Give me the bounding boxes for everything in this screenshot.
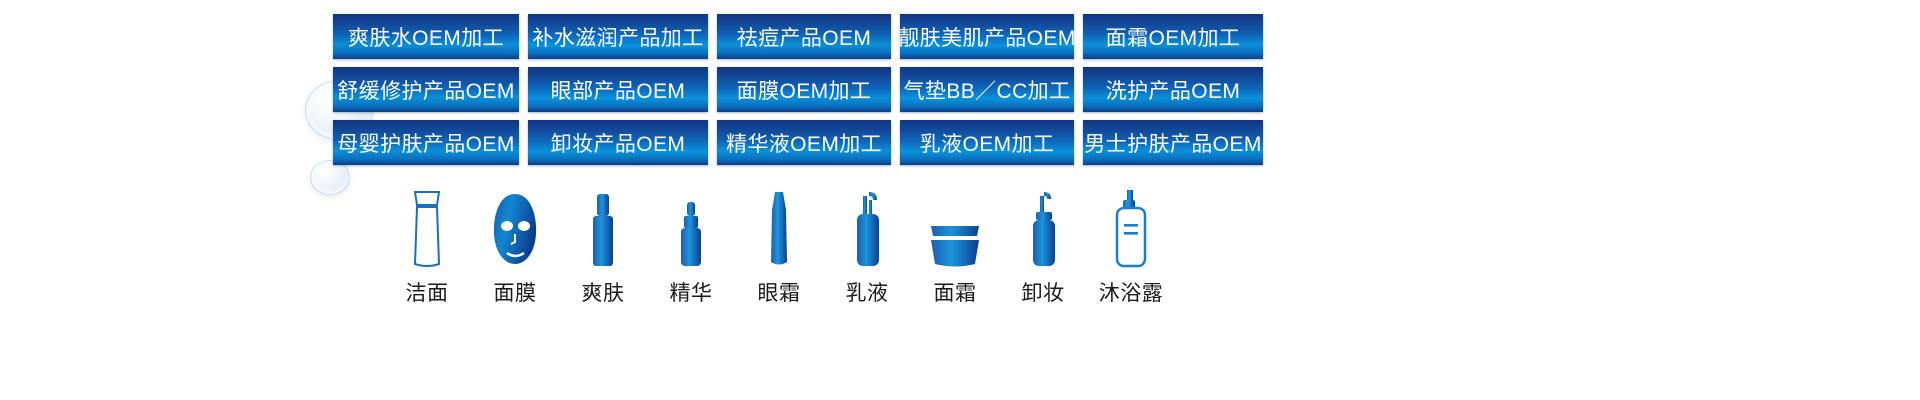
tag-label: 祛痘产品OEM bbox=[737, 22, 872, 52]
tag-label: 面霜OEM加工 bbox=[1106, 22, 1241, 52]
tag-mask-oem[interactable]: 面膜OEM加工 bbox=[717, 67, 891, 112]
tag-cushion-bb-cc-oem[interactable]: 气垫BB／CC加工 bbox=[900, 67, 1074, 112]
water-drop-small-icon bbox=[310, 160, 350, 195]
icon-label: 爽肤 bbox=[582, 277, 625, 307]
icon-label: 面膜 bbox=[494, 277, 537, 307]
tag-label: 眼部产品OEM bbox=[551, 75, 686, 105]
makeup-remover-pump-icon bbox=[1024, 190, 1062, 268]
tag-eye-care-oem[interactable]: 眼部产品OEM bbox=[528, 67, 708, 112]
tag-hydrating-oem[interactable]: 补水滋润产品加工 bbox=[528, 14, 708, 59]
product-category-serum[interactable]: 精华 bbox=[647, 190, 735, 307]
icon-label: 精华 bbox=[670, 277, 713, 307]
product-category-makeup-remover[interactable]: 卸妆 bbox=[999, 190, 1087, 307]
body-wash-bottle-icon bbox=[1109, 190, 1153, 268]
sheet-mask-icon bbox=[483, 190, 547, 268]
tag-mother-baby-oem[interactable]: 母婴护肤产品OEM bbox=[333, 120, 519, 165]
icon-label: 卸妆 bbox=[1022, 277, 1065, 307]
product-category-toner[interactable]: 爽肤 bbox=[559, 190, 647, 307]
tag-label: 卸妆产品OEM bbox=[551, 128, 686, 158]
tag-label: 补水滋润产品加工 bbox=[532, 22, 703, 52]
icon-label: 眼霜 bbox=[758, 277, 801, 307]
tag-row-2: 舒缓修护产品OEM 眼部产品OEM 面膜OEM加工 气垫BB／CC加工 洗护产品… bbox=[333, 67, 1263, 112]
product-category-lotion[interactable]: 乳液 bbox=[823, 190, 911, 307]
tag-toner-oem[interactable]: 爽肤水OEM加工 bbox=[333, 14, 519, 59]
tag-wash-care-oem[interactable]: 洗护产品OEM bbox=[1083, 67, 1263, 112]
product-category-cream[interactable]: 面霜 bbox=[911, 190, 999, 307]
icon-label: 沐浴露 bbox=[1099, 277, 1164, 307]
product-category-cleanser[interactable]: 洁面 bbox=[383, 190, 471, 307]
tag-row-3: 母婴护肤产品OEM 卸妆产品OEM 精华液OEM加工 乳液OEM加工 男士护肤产… bbox=[333, 120, 1263, 165]
tag-label: 舒缓修护产品OEM bbox=[337, 75, 514, 105]
cleanser-tube-icon bbox=[400, 190, 454, 268]
service-tag-grid: 爽肤水OEM加工 补水滋润产品加工 祛痘产品OEM 靓肤美肌产品OEM 面霜OE… bbox=[333, 14, 1263, 165]
tag-label: 精华液OEM加工 bbox=[726, 128, 882, 158]
tag-makeup-remover-oem[interactable]: 卸妆产品OEM bbox=[528, 120, 708, 165]
tag-label: 靓肤美肌产品OEM bbox=[898, 22, 1075, 52]
tag-label: 爽肤水OEM加工 bbox=[348, 22, 504, 52]
banner-root: 爽肤水OEM加工 补水滋润产品加工 祛痘产品OEM 靓肤美肌产品OEM 面霜OE… bbox=[0, 0, 1920, 400]
tag-acne-oem[interactable]: 祛痘产品OEM bbox=[717, 14, 891, 59]
tag-label: 气垫BB／CC加工 bbox=[904, 75, 1071, 105]
icon-label: 洁面 bbox=[406, 277, 449, 307]
product-category-icons: 洁面 面膜 bbox=[383, 190, 1175, 307]
tag-lotion-oem[interactable]: 乳液OEM加工 bbox=[900, 120, 1074, 165]
tag-mens-skincare-oem[interactable]: 男士护肤产品OEM bbox=[1083, 120, 1263, 165]
tag-label: 男士护肤产品OEM bbox=[1084, 128, 1261, 158]
tag-serum-oem[interactable]: 精华液OEM加工 bbox=[717, 120, 891, 165]
tag-row-1: 爽肤水OEM加工 补水滋润产品加工 祛痘产品OEM 靓肤美肌产品OEM 面霜OE… bbox=[333, 14, 1263, 59]
tag-label: 乳液OEM加工 bbox=[920, 128, 1055, 158]
icon-label: 面霜 bbox=[934, 277, 977, 307]
product-category-mask[interactable]: 面膜 bbox=[471, 190, 559, 307]
tag-face-cream-oem[interactable]: 面霜OEM加工 bbox=[1083, 14, 1263, 59]
tag-label: 洗护产品OEM bbox=[1106, 75, 1241, 105]
toner-bottle-icon bbox=[586, 190, 620, 268]
product-category-body-wash[interactable]: 沐浴露 bbox=[1087, 190, 1175, 307]
eye-cream-tube-icon bbox=[761, 190, 797, 268]
cream-jar-icon bbox=[925, 190, 985, 268]
tag-brightening-oem[interactable]: 靓肤美肌产品OEM bbox=[900, 14, 1074, 59]
tag-soothing-repair-oem[interactable]: 舒缓修护产品OEM bbox=[333, 67, 519, 112]
tag-label: 母婴护肤产品OEM bbox=[337, 128, 514, 158]
lotion-pump-icon bbox=[847, 190, 887, 268]
tag-label: 面膜OEM加工 bbox=[737, 75, 872, 105]
product-category-eye-cream[interactable]: 眼霜 bbox=[735, 190, 823, 307]
serum-dropper-icon bbox=[674, 190, 708, 268]
icon-label: 乳液 bbox=[846, 277, 889, 307]
